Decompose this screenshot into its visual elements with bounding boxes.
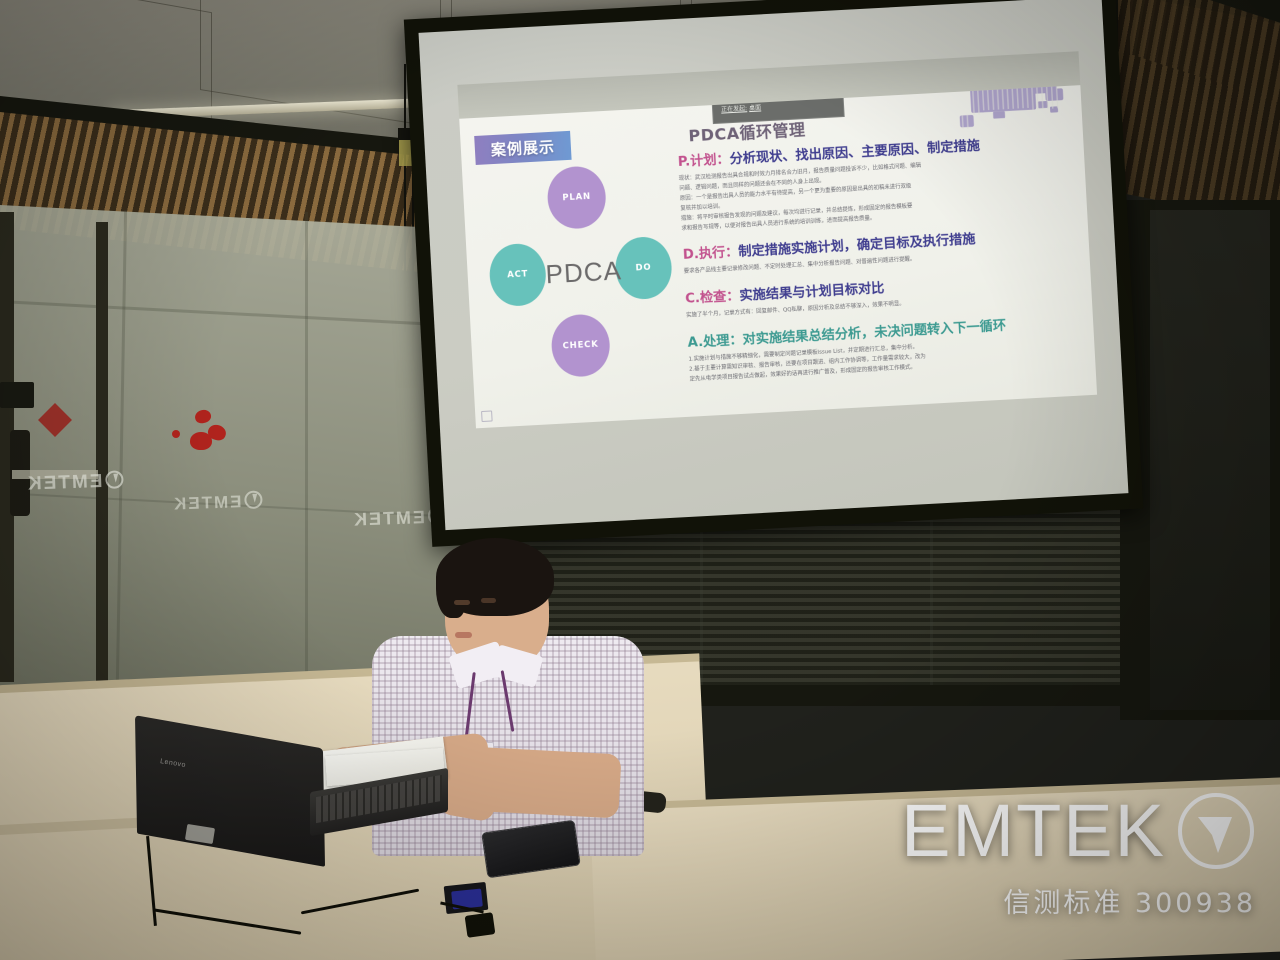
door-frame (96, 222, 108, 682)
red-decoration (172, 430, 180, 438)
conference-table-right (590, 780, 1280, 960)
section-key: P.计划： (678, 152, 731, 170)
emtek-ring-icon (244, 490, 263, 509)
slide-section-p: P.计划：分析现状、找出原因、主要原因、制定措施 现状：武汉检测报告出具合规和时… (677, 129, 1081, 234)
pdca-center-label: PDCA (537, 250, 631, 295)
projection-screen: ⇥ 正在发起: 桌面 (404, 0, 1144, 564)
section-key: D.执行： (683, 245, 739, 263)
pdca-diagram: PLAN DO CHECK ACT PDCA (480, 159, 683, 409)
section-key: C.检查： (685, 289, 740, 307)
slide-section-a: A.处理：对实施结果总结分析，未决问题转入下一循环 1.实施计划与措施不够精细化… (687, 310, 1089, 385)
slide-corner-icon (481, 410, 493, 422)
red-decoration (190, 432, 212, 450)
emtek-glass-logo: EMTEK (26, 470, 124, 495)
presenter-hair-side (436, 560, 466, 618)
share-status-label: 正在发起: (721, 105, 747, 113)
screen-surface: ⇥ 正在发起: 桌面 (419, 0, 1129, 530)
dark-glass-right (1150, 210, 1270, 710)
slide-title: PDCA循环管理 (688, 116, 806, 146)
glass-mullion (305, 212, 308, 682)
presenter-mouth (455, 632, 472, 638)
emtek-ring-icon (105, 470, 124, 489)
presenter-eye (454, 600, 470, 605)
meeting-room-photo: EMTEK EMTEK EMTEK (0, 0, 1280, 960)
pdca-node-check: CHECK (550, 313, 611, 378)
share-status-value: 桌面 (749, 104, 761, 112)
wall-device (0, 382, 34, 408)
presenter-eye (481, 598, 496, 603)
pdca-node-plan: PLAN (546, 165, 607, 230)
emtek-glass-logo: EMTEK (172, 490, 263, 514)
section-key: A.处理： (687, 333, 743, 351)
slide-section-badge: 案例展示 (474, 131, 571, 165)
share-status: 正在发起: 桌面 (721, 102, 761, 113)
glass-partition-left (0, 205, 470, 710)
presentation-slide: ⇥ 正在发起: 桌面 (459, 85, 1097, 428)
cable-connector (465, 912, 496, 938)
